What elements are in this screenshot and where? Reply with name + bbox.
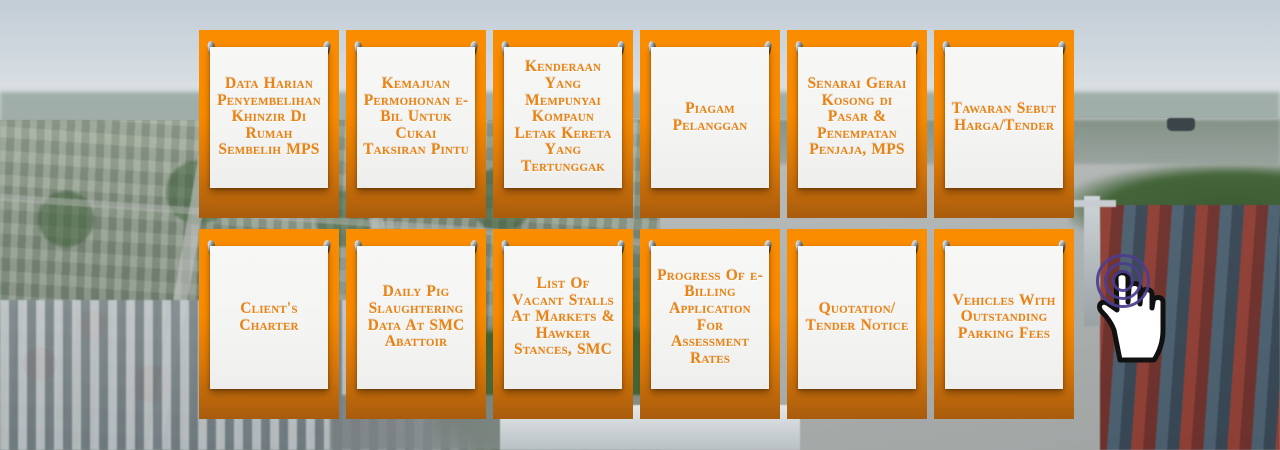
tile-paper-panel[interactable]: Data Harian Penyembelihan Khinzir Di Rum… [210, 47, 328, 188]
service-tile-vehicles-outstanding-parking-fees[interactable]: Vehicles With Outstanding Parking Fees [934, 229, 1074, 419]
tile-title: Progress Of e-Billing Application For As… [656, 268, 764, 367]
tile-paper-panel[interactable]: Daily Pig Slaughtering Data At SMC Abatt… [357, 246, 475, 389]
tile-title: Daily Pig Slaughtering Data At SMC Abatt… [362, 284, 470, 350]
service-tile-clients-charter[interactable]: Client's Charter [199, 229, 339, 419]
tile-paper-panel[interactable]: Kenderaan Yang Mempunyai Kompaun Letak K… [504, 47, 622, 188]
tile-title: Data Harian Penyembelihan Khinzir Di Rum… [215, 76, 323, 159]
tile-paper-panel[interactable]: List Of Vacant Stalls At Markets & Hawke… [504, 246, 622, 389]
service-tile-tawaran-sebut-harga-tender[interactable]: Tawaran Sebut Harga/Tender [934, 30, 1074, 218]
service-tile-grid: Data Harian Penyembelihan Khinzir Di Rum… [199, 30, 1081, 419]
service-tile-daily-pig-slaughtering-data[interactable]: Daily Pig Slaughtering Data At SMC Abatt… [346, 229, 486, 419]
service-tile-kemajuan-permohonan-ebil[interactable]: Kemajuan Permohonan e-Bil Untuk Cukai Ta… [346, 30, 486, 218]
tile-paper-panel[interactable]: Senarai Gerai Kosong di Pasar & Penempat… [798, 47, 916, 188]
tile-paper-panel[interactable]: Tawaran Sebut Harga/Tender [945, 47, 1063, 188]
service-tile-senarai-gerai-kosong[interactable]: Senarai Gerai Kosong di Pasar & Penempat… [787, 30, 927, 218]
tile-title: Quotation/ Tender Notice [803, 301, 911, 334]
service-tile-data-harian-penyembelihan[interactable]: Data Harian Penyembelihan Khinzir Di Rum… [199, 30, 339, 218]
river-boat [1167, 118, 1195, 131]
container-port [1100, 205, 1280, 450]
service-tile-quotation-tender-notice[interactable]: Quotation/ Tender Notice [787, 229, 927, 419]
service-tile-progress-of-ebilling-application[interactable]: Progress Of e-Billing Application For As… [640, 229, 780, 419]
tile-title: Vehicles With Outstanding Parking Fees [950, 293, 1058, 343]
tile-paper-panel[interactable]: Quotation/ Tender Notice [798, 246, 916, 389]
service-tile-kenderaan-kompaun-letak-kereta[interactable]: Kenderaan Yang Mempunyai Kompaun Letak K… [493, 30, 633, 218]
tile-title: Client's Charter [215, 301, 323, 334]
service-tile-list-of-vacant-stalls[interactable]: List Of Vacant Stalls At Markets & Hawke… [493, 229, 633, 419]
tile-paper-panel[interactable]: Client's Charter [210, 246, 328, 389]
tile-title: Piagam Pelanggan [656, 101, 764, 134]
tile-paper-panel[interactable]: Vehicles With Outstanding Parking Fees [945, 246, 1063, 389]
tile-title: Kenderaan Yang Mempunyai Kompaun Letak K… [509, 59, 617, 175]
tile-paper-panel[interactable]: Piagam Pelanggan [651, 47, 769, 188]
tile-title: Senarai Gerai Kosong di Pasar & Penempat… [803, 76, 911, 159]
tile-paper-panel[interactable]: Kemajuan Permohonan e-Bil Untuk Cukai Ta… [357, 47, 475, 188]
tile-title: Kemajuan Permohonan e-Bil Untuk Cukai Ta… [362, 76, 470, 159]
service-tile-piagam-pelanggan[interactable]: Piagam Pelanggan [640, 30, 780, 218]
port-crane [1084, 196, 1100, 326]
tile-title: List Of Vacant Stalls At Markets & Hawke… [509, 276, 617, 359]
tile-paper-panel[interactable]: Progress Of e-Billing Application For As… [651, 246, 769, 389]
tile-title: Tawaran Sebut Harga/Tender [950, 101, 1058, 134]
